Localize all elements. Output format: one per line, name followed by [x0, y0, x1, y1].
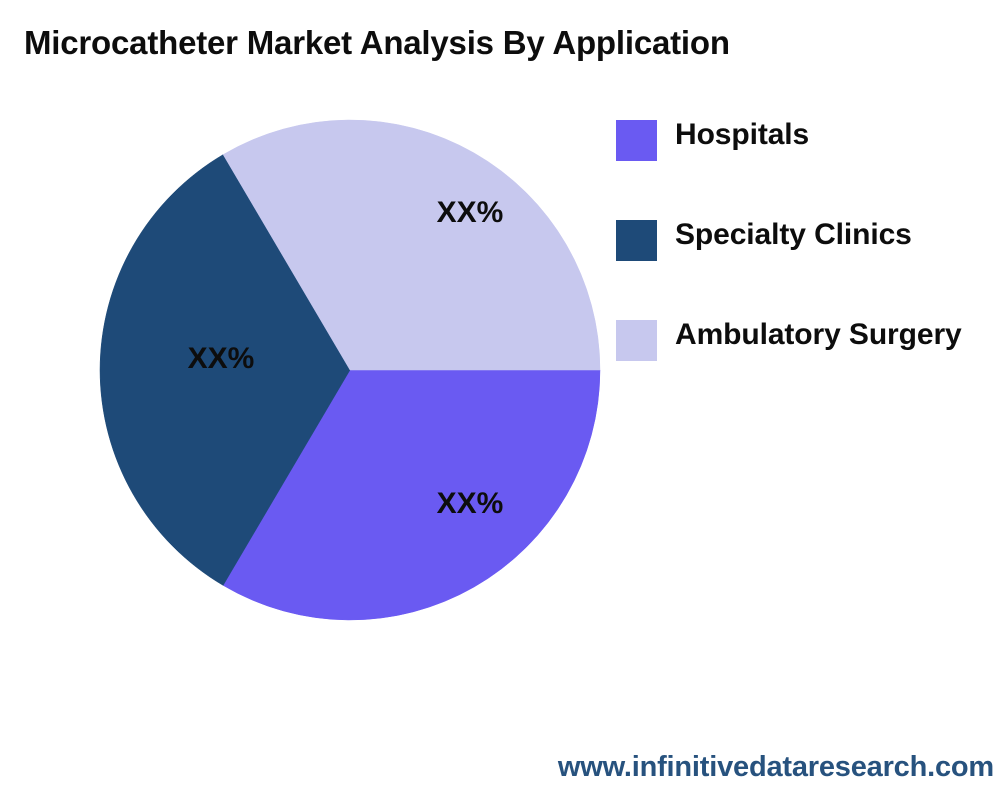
- pie-slice-group: [100, 120, 600, 620]
- legend-label-hospitals: Hospitals: [675, 117, 809, 153]
- legend-item-specialty-clinics[interactable]: Specialty Clinics: [616, 210, 1000, 310]
- pie-slice-label: XX%: [437, 487, 504, 520]
- legend-label-ambulatory-surgery: Ambulatory Surgery: [675, 317, 962, 353]
- legend-item-hospitals[interactable]: Hospitals: [616, 110, 1000, 210]
- legend-swatch-ambulatory-surgery: [616, 320, 657, 361]
- pie-slice-label: XX%: [437, 196, 504, 229]
- legend: Hospitals Specialty Clinics Ambulatory S…: [616, 110, 1000, 410]
- legend-swatch-hospitals: [616, 120, 657, 161]
- legend-swatch-specialty-clinics: [616, 220, 657, 261]
- source-url[interactable]: www.infinitivedataresearch.com: [558, 751, 994, 784]
- chart-page: Microcatheter Market Analysis By Applica…: [0, 0, 1000, 800]
- legend-item-ambulatory-surgery[interactable]: Ambulatory Surgery: [616, 310, 1000, 410]
- legend-label-specialty-clinics: Specialty Clinics: [675, 217, 912, 253]
- pie-slice-label: XX%: [188, 342, 255, 375]
